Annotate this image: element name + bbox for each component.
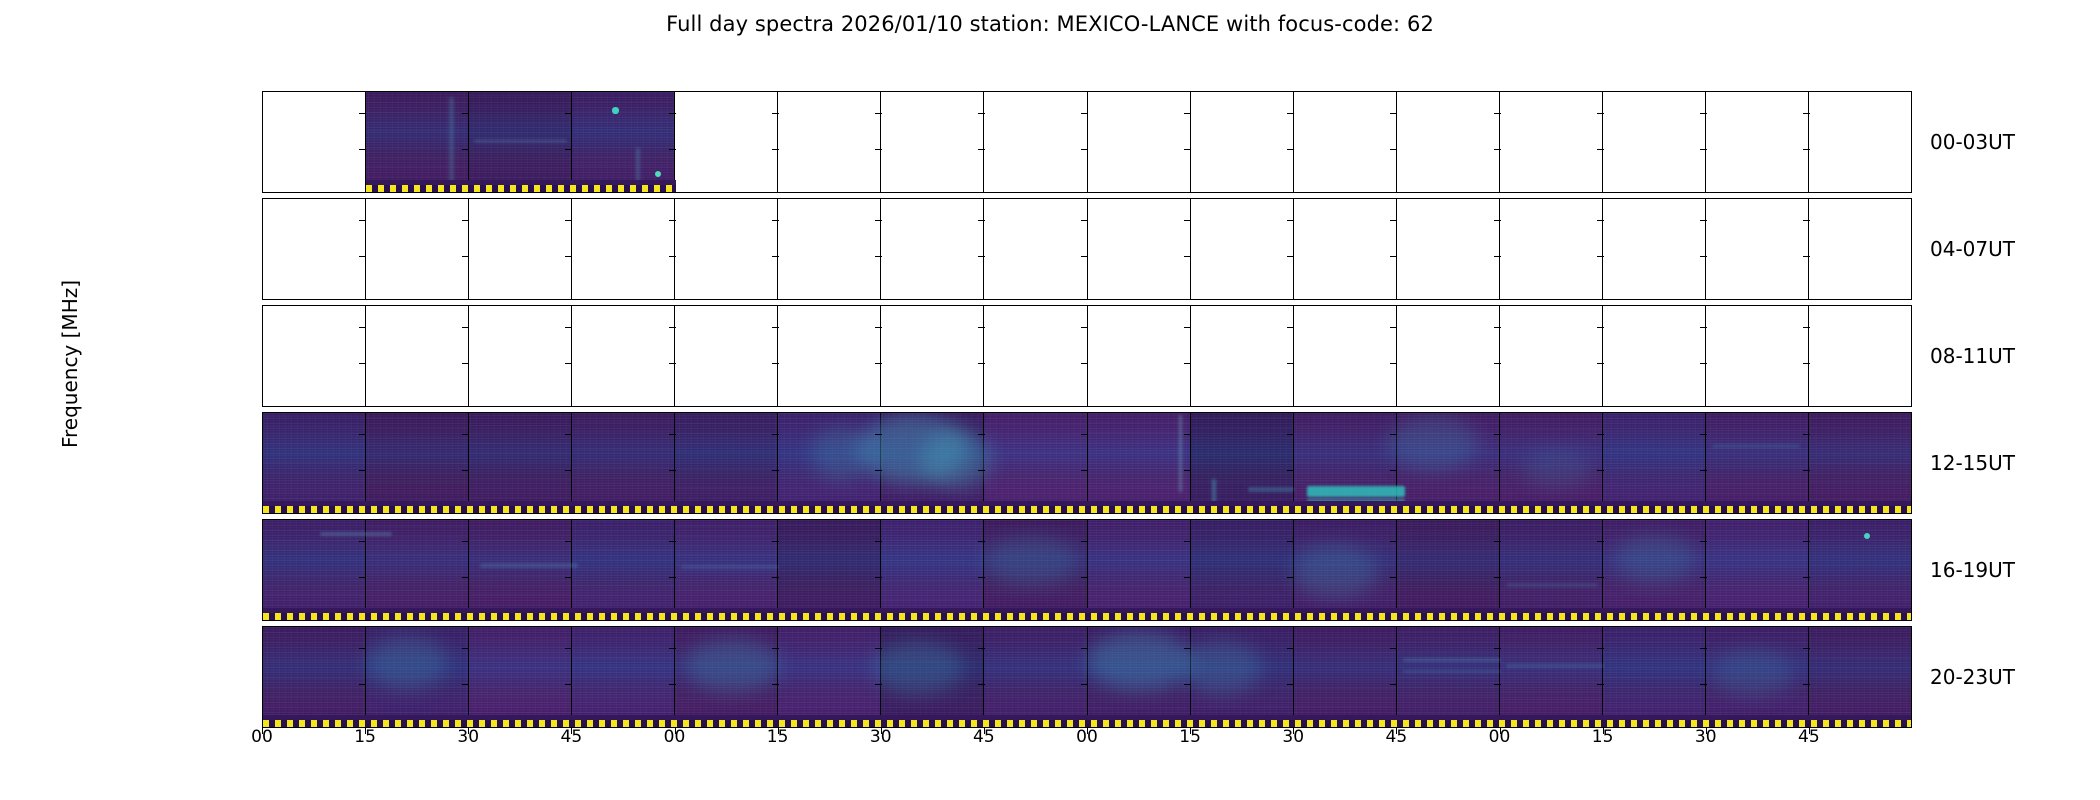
spectrogram-cell: [263, 413, 366, 513]
spectrogram-feature-blob: [1713, 648, 1793, 698]
row-label-12-15ut: 12-15UT: [1930, 451, 2015, 475]
spectrogram-data: [263, 413, 365, 513]
y-axis-inner-tick: [1803, 577, 1810, 578]
y-axis-inner-tick: [875, 327, 882, 328]
y-axis-inner-tick: [875, 149, 882, 150]
y-axis-inner-tick: [462, 434, 469, 435]
spectrogram-data: [1397, 520, 1499, 620]
y-axis-inner-tick: [359, 113, 366, 114]
spectrogram-cell: [263, 199, 366, 299]
y-axis-inner-tick: [875, 648, 882, 649]
spectrogram-data: [1088, 413, 1190, 513]
y-axis-inner-tick: [1597, 541, 1604, 542]
spectrogram-feature-streak: [1179, 415, 1182, 492]
y-axis-inner-tick: [1597, 220, 1604, 221]
spectrogram-cell: [778, 520, 881, 620]
spectrogram-cell: [984, 199, 1087, 299]
spectrogram-data: [1500, 627, 1602, 727]
spectrogram-cell: [1603, 413, 1706, 513]
y-axis-inner-tick: [772, 149, 779, 150]
y-axis-inner-tick: [1700, 363, 1707, 364]
y-axis-inner-tick: [1494, 577, 1501, 578]
y-axis-inner-tick: [1803, 220, 1810, 221]
spectrogram-cell: [778, 199, 881, 299]
y-axis-inner-tick: [1390, 434, 1397, 435]
spectrogram-row-6: 8060: [262, 626, 1912, 728]
y-axis-inner-tick: [462, 363, 469, 364]
y-axis-inner-tick: [1390, 470, 1397, 471]
y-axis-inner-tick: [1494, 113, 1501, 114]
spectrogram-feature-blob: [873, 640, 963, 695]
y-axis-inner-tick: [669, 684, 676, 685]
y-axis-inner-tick: [875, 541, 882, 542]
y-axis-inner-tick: [772, 113, 779, 114]
spectrogram-data: [1397, 627, 1499, 727]
y-axis-inner-tick: [772, 470, 779, 471]
x-axis-tick-label: 15: [767, 727, 789, 747]
spectrogram-data: [572, 627, 674, 727]
y-axis-inner-tick: [669, 113, 676, 114]
spectrogram-data: [1191, 520, 1293, 620]
spectrogram-feature-band: [1712, 444, 1800, 448]
y-axis-inner-tick: [462, 470, 469, 471]
y-axis-tick: [262, 113, 263, 114]
y-axis-inner-tick: [462, 541, 469, 542]
y-axis-inner-tick: [1494, 470, 1501, 471]
y-axis-tick: [262, 327, 263, 328]
spectrogram-data: [1294, 627, 1396, 727]
spectrogram-data: [675, 413, 777, 513]
y-axis-inner-tick: [359, 577, 366, 578]
spectrogram-cell: [572, 199, 675, 299]
y-axis-inner-tick: [1700, 684, 1707, 685]
y-axis-inner-tick: [772, 434, 779, 435]
y-axis-inner-tick: [1803, 684, 1810, 685]
y-axis-inner-tick: [669, 648, 676, 649]
y-axis-inner-tick: [978, 256, 985, 257]
spectrogram-cell: [469, 199, 572, 299]
spectrogram-cell: [675, 413, 778, 513]
spectrogram-cell: [366, 306, 469, 406]
x-axis-tick-label: 00: [1076, 727, 1098, 747]
y-axis-inner-tick: [565, 113, 572, 114]
y-axis-inner-tick: [1390, 648, 1397, 649]
spectrogram-data: [572, 520, 674, 620]
spectrogram-feature-blob: [811, 426, 871, 481]
spectrogram-cell: [469, 413, 572, 513]
spectrogram-row-4: 8060: [262, 412, 1912, 514]
y-axis-inner-tick: [1494, 256, 1501, 257]
y-axis-inner-tick: [1803, 470, 1810, 471]
spectrogram-cell: [881, 520, 984, 620]
y-axis-inner-tick: [1803, 327, 1810, 328]
row-label-16-19ut: 16-19UT: [1930, 558, 2015, 582]
spectrogram-data: [469, 520, 571, 620]
spectrogram-cell: [1294, 627, 1397, 727]
y-axis-inner-tick: [772, 684, 779, 685]
y-axis-inner-tick: [1184, 256, 1191, 257]
y-axis-inner-tick: [359, 541, 366, 542]
y-axis-inner-tick: [565, 470, 572, 471]
y-axis-inner-tick: [1494, 220, 1501, 221]
y-axis-inner-tick: [772, 327, 779, 328]
spectrogram-cell: [778, 306, 881, 406]
y-axis-inner-tick: [565, 220, 572, 221]
spectrogram-data: [881, 520, 983, 620]
y-axis-tick: [262, 684, 263, 685]
spectrogram-feature-blob: [1388, 416, 1478, 471]
x-axis-tick-label: 30: [457, 727, 479, 747]
spectrogram-cell: [675, 92, 778, 192]
y-axis-inner-tick: [1803, 363, 1810, 364]
y-axis-inner-tick: [1287, 541, 1294, 542]
y-axis-inner-tick: [1184, 434, 1191, 435]
y-axis-inner-tick: [1184, 220, 1191, 221]
y-axis-inner-tick: [1081, 220, 1088, 221]
spectrogram-cell: [366, 413, 469, 513]
spectrogram-cell: [1706, 413, 1809, 513]
y-axis-inner-tick: [669, 327, 676, 328]
x-axis-tick-label: 45: [561, 727, 583, 747]
marker-strip: [263, 720, 1912, 727]
spectrogram-feature-streak: [449, 97, 454, 189]
y-axis-inner-tick: [1494, 684, 1501, 685]
y-axis-inner-tick: [978, 648, 985, 649]
spectrogram-cell: [1809, 413, 1911, 513]
spectrogram-feature-blob: [921, 429, 991, 489]
spectrogram-row-2: 8060: [262, 198, 1912, 300]
spectrogram-cell: [1706, 199, 1809, 299]
y-axis-inner-tick: [978, 363, 985, 364]
y-axis-inner-tick: [359, 470, 366, 471]
spectrogram-feature-band: [474, 139, 567, 143]
y-axis-inner-tick: [1597, 577, 1604, 578]
y-axis-inner-tick: [1700, 648, 1707, 649]
spectrogram-feature-blob: [1522, 449, 1592, 489]
spectrogram-figure: Frequency [MHz] 806000-03UT806004-07UT80…: [0, 0, 2100, 800]
y-axis-inner-tick: [978, 220, 985, 221]
x-axis-tick-label: 15: [354, 727, 376, 747]
y-axis-inner-tick: [565, 256, 572, 257]
spectrogram-data: [1088, 520, 1190, 620]
y-axis-inner-tick: [875, 256, 882, 257]
y-axis-inner-tick: [1184, 470, 1191, 471]
y-axis-inner-tick: [565, 149, 572, 150]
y-axis-inner-tick: [1494, 434, 1501, 435]
y-axis-inner-tick: [772, 648, 779, 649]
y-axis-inner-tick: [462, 684, 469, 685]
y-axis-inner-tick: [1803, 256, 1810, 257]
y-axis-inner-tick: [978, 327, 985, 328]
y-axis-inner-tick: [1184, 149, 1191, 150]
y-axis-inner-tick: [1597, 434, 1604, 435]
row-cell-grid: [263, 413, 1911, 513]
spectrogram-cell: [1397, 92, 1500, 192]
spectrogram-cell: [1500, 92, 1603, 192]
y-axis-label: Frequency [MHz]: [58, 234, 82, 494]
marker-strip: [263, 613, 1912, 620]
y-axis-inner-tick: [1390, 684, 1397, 685]
spectrogram-cell: [1294, 92, 1397, 192]
x-axis-tick-label: 00: [1489, 727, 1511, 747]
spectrogram-cell: [1809, 199, 1911, 299]
y-axis-inner-tick: [565, 363, 572, 364]
y-axis-inner-tick: [1597, 256, 1604, 257]
y-axis-inner-tick: [565, 541, 572, 542]
x-axis-tick-label: 45: [1798, 727, 1820, 747]
y-axis-inner-tick: [978, 149, 985, 150]
spectrogram-cell: [1294, 306, 1397, 406]
spectrogram-data: [1191, 413, 1293, 513]
spectrogram-data: [778, 520, 880, 620]
marker-strip: [366, 185, 675, 192]
y-axis-inner-tick: [1390, 149, 1397, 150]
y-axis-inner-tick: [1081, 684, 1088, 685]
spectrogram-cell: [1706, 92, 1809, 192]
spectrogram-cell: [1191, 199, 1294, 299]
y-axis-inner-tick: [565, 577, 572, 578]
spectrogram-data: [1603, 413, 1705, 513]
y-axis-inner-tick: [669, 434, 676, 435]
y-axis-inner-tick: [1081, 648, 1088, 649]
y-axis-tick: [262, 648, 263, 649]
spectrogram-feature-blob: [1615, 534, 1695, 584]
y-axis-inner-tick: [1597, 648, 1604, 649]
y-axis-inner-tick: [359, 327, 366, 328]
spectrogram-cell: [1088, 306, 1191, 406]
x-axis-tick-label: 15: [1179, 727, 1201, 747]
y-axis-inner-tick: [1184, 648, 1191, 649]
y-axis-inner-tick: [875, 684, 882, 685]
spectrogram-cell: [1603, 199, 1706, 299]
spectrogram-cell: [1603, 306, 1706, 406]
spectrogram-cell: [263, 92, 366, 192]
spectrogram-data: [469, 413, 571, 513]
spectrogram-cell: [778, 92, 881, 192]
spectrogram-data: [675, 520, 777, 620]
x-axis-tick-label: 30: [870, 727, 892, 747]
y-axis-inner-tick: [1081, 256, 1088, 257]
spectrogram-feature-blob: [1182, 640, 1262, 695]
y-axis-tick: [262, 363, 263, 364]
spectrogram-data: [984, 627, 1086, 727]
y-axis-inner-tick: [359, 648, 366, 649]
y-axis-inner-tick: [1287, 648, 1294, 649]
spectrogram-feature-blob: [1293, 544, 1378, 599]
row-cell-grid: [263, 627, 1911, 727]
y-axis-inner-tick: [1700, 149, 1707, 150]
spectrogram-feature-point: [655, 171, 661, 177]
y-axis-inner-tick: [1700, 220, 1707, 221]
spectrogram-data: [366, 413, 468, 513]
spectrogram-cell: [1397, 199, 1500, 299]
spectrogram-data: [778, 627, 880, 727]
marker-strip: [263, 506, 1912, 513]
y-axis-inner-tick: [1184, 113, 1191, 114]
spectrogram-cell: [984, 92, 1087, 192]
y-axis-inner-tick: [1287, 363, 1294, 364]
x-axis-tick-label: 30: [1695, 727, 1717, 747]
spectrogram-feature-band: [320, 532, 392, 536]
y-axis-inner-tick: [1700, 541, 1707, 542]
y-axis-inner-tick: [669, 220, 676, 221]
y-axis-inner-tick: [875, 363, 882, 364]
spectrogram-data: [984, 413, 1086, 513]
y-axis-inner-tick: [669, 363, 676, 364]
spectrogram-data: [572, 413, 674, 513]
spectrogram-feature-band: [480, 563, 578, 568]
spectrogram-cell: [881, 92, 984, 192]
spectrogram-cell: [1191, 520, 1294, 620]
spectrogram-cell: [778, 627, 881, 727]
row-label-00-03ut: 00-03UT: [1930, 130, 2015, 154]
y-axis-inner-tick: [1494, 648, 1501, 649]
y-axis-inner-tick: [1597, 113, 1604, 114]
y-axis-inner-tick: [772, 541, 779, 542]
spectrogram-cell: [984, 627, 1087, 727]
y-axis-tick: [262, 149, 263, 150]
spectrogram-cell: [1809, 92, 1911, 192]
spectrogram-cell: [1809, 627, 1911, 727]
spectrogram-cell: [675, 199, 778, 299]
spectrogram-cell: [675, 520, 778, 620]
y-axis-inner-tick: [1494, 541, 1501, 542]
y-axis-inner-tick: [359, 256, 366, 257]
y-axis-inner-tick: [669, 577, 676, 578]
row-cell-grid: [263, 199, 1911, 299]
y-axis-inner-tick: [669, 256, 676, 257]
spectrogram-cell: [1397, 520, 1500, 620]
y-axis-inner-tick: [1081, 149, 1088, 150]
spectrogram-data: [263, 627, 365, 727]
spectrogram-cell: [572, 627, 675, 727]
spectrogram-cell: [1603, 627, 1706, 727]
spectrogram-feature-blob: [685, 638, 780, 693]
spectrogram-cell: [984, 306, 1087, 406]
spectrogram-cell: [1500, 199, 1603, 299]
y-axis-inner-tick: [462, 577, 469, 578]
y-axis-tick: [262, 577, 263, 578]
y-axis-inner-tick: [1287, 220, 1294, 221]
y-axis-inner-tick: [978, 684, 985, 685]
spectrogram-feature-band: [1403, 670, 1501, 673]
y-axis-inner-tick: [978, 434, 985, 435]
y-axis-inner-tick: [1494, 363, 1501, 364]
spectrogram-data: [1809, 413, 1911, 513]
row-label-08-11ut: 08-11UT: [1930, 344, 2015, 368]
y-axis-inner-tick: [875, 434, 882, 435]
y-axis-inner-tick: [1390, 220, 1397, 221]
row-label-20-23ut: 20-23UT: [1930, 665, 2015, 689]
spectrogram-feature-blob: [984, 536, 1079, 586]
spectrogram-data: [1706, 413, 1808, 513]
y-axis-inner-tick: [978, 577, 985, 578]
spectrogram-feature-band: [1506, 664, 1604, 668]
y-axis-inner-tick: [1390, 256, 1397, 257]
y-axis-inner-tick: [875, 577, 882, 578]
y-axis-inner-tick: [1184, 577, 1191, 578]
spectrogram-cell: [469, 306, 572, 406]
spectrogram-feature-band: [1506, 583, 1599, 587]
y-axis-inner-tick: [978, 541, 985, 542]
y-axis-inner-tick: [1803, 149, 1810, 150]
spectrogram-cell: [1088, 199, 1191, 299]
y-axis-inner-tick: [1390, 541, 1397, 542]
spectrogram-cell: [1500, 520, 1603, 620]
spectrogram-cell: [263, 306, 366, 406]
y-axis-inner-tick: [1700, 470, 1707, 471]
y-axis-inner-tick: [1184, 684, 1191, 685]
x-axis-tick-label: 45: [1386, 727, 1408, 747]
y-axis-tick: [262, 434, 263, 435]
y-axis-inner-tick: [565, 434, 572, 435]
y-axis-inner-tick: [1700, 113, 1707, 114]
y-axis-inner-tick: [1803, 541, 1810, 542]
spectrogram-data: [1500, 520, 1602, 620]
y-axis-inner-tick: [1081, 327, 1088, 328]
spectrogram-cell: [263, 627, 366, 727]
spectrogram-cell: [984, 413, 1087, 513]
spectrogram-cell: [572, 413, 675, 513]
y-axis-inner-tick: [1184, 363, 1191, 364]
spectrogram-cell: [572, 92, 675, 192]
spectrogram-cell: [1706, 520, 1809, 620]
spectrogram-feature-blob: [1087, 631, 1192, 691]
spectrogram-data: [1809, 520, 1911, 620]
y-axis-inner-tick: [565, 684, 572, 685]
spectrogram-data: [1603, 627, 1705, 727]
y-axis-tick: [262, 470, 263, 471]
spectrogram-cell: [469, 627, 572, 727]
y-axis-tick: [262, 256, 263, 257]
y-axis-inner-tick: [1287, 113, 1294, 114]
spectrogram-cell: [1500, 306, 1603, 406]
spectrogram-feature-band: [1403, 658, 1501, 662]
y-axis-inner-tick: [565, 648, 572, 649]
y-axis-inner-tick: [565, 327, 572, 328]
y-axis-inner-tick: [1700, 256, 1707, 257]
spectrogram-feature-band: [1248, 487, 1294, 492]
y-axis-tick: [262, 541, 263, 542]
y-axis-inner-tick: [875, 470, 882, 471]
spectrogram-cell: [1397, 306, 1500, 406]
y-axis-inner-tick: [462, 256, 469, 257]
spectrogram-cell: [675, 306, 778, 406]
spectrogram-cell: [1500, 627, 1603, 727]
y-axis-inner-tick: [1390, 327, 1397, 328]
y-axis-inner-tick: [1287, 470, 1294, 471]
y-axis-inner-tick: [772, 256, 779, 257]
y-axis-inner-tick: [772, 363, 779, 364]
y-axis-inner-tick: [1184, 541, 1191, 542]
spectrogram-cell: [1191, 413, 1294, 513]
y-axis-inner-tick: [1494, 327, 1501, 328]
spectrogram-cell: [1088, 520, 1191, 620]
y-axis-inner-tick: [1287, 684, 1294, 685]
y-axis-inner-tick: [772, 577, 779, 578]
x-axis-tick-label: 00: [664, 727, 686, 747]
y-axis-inner-tick: [1803, 648, 1810, 649]
y-axis-inner-tick: [1287, 434, 1294, 435]
spectrogram-cell: [1191, 306, 1294, 406]
spectrogram-cell: [366, 92, 469, 192]
spectrogram-feature-band: [1307, 486, 1405, 497]
spectrogram-cell: [1397, 627, 1500, 727]
spectrogram-cell: [1294, 199, 1397, 299]
spectrogram-row-1: 8060: [262, 91, 1912, 193]
x-axis-tick-label: 15: [1592, 727, 1614, 747]
y-axis-inner-tick: [669, 470, 676, 471]
